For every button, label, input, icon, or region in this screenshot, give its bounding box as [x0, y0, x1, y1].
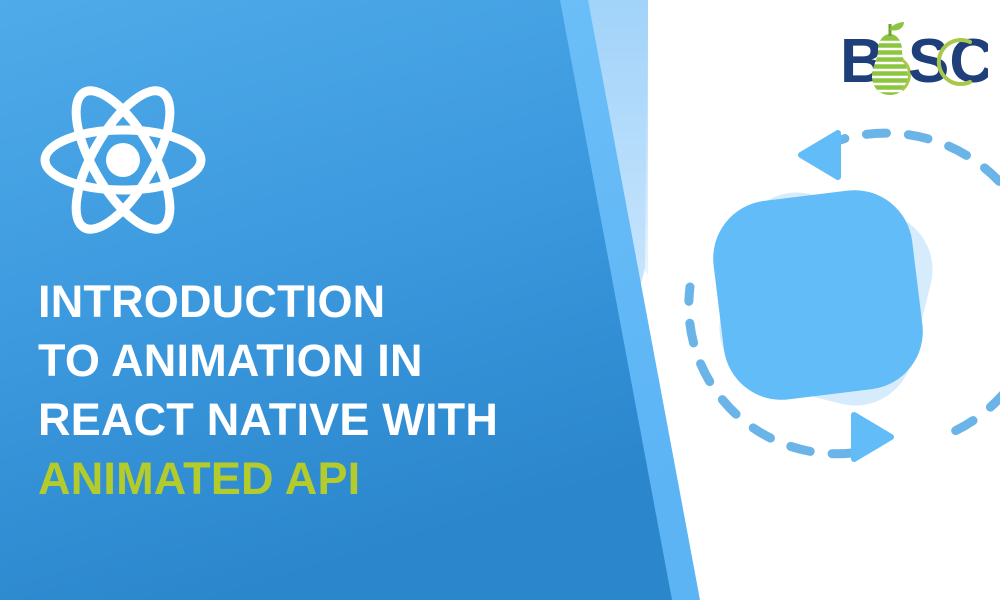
title-line-accent: ANIMATED API — [38, 449, 558, 508]
arrow-head-right — [854, 415, 891, 459]
react-nucleus — [106, 143, 140, 177]
react-atom-logo — [38, 78, 208, 243]
rotating-square-illustration — [676, 105, 1000, 495]
animated-square — [707, 184, 930, 407]
title-line-3: REACT NATIVE WITH — [38, 390, 558, 449]
title-line-2: TO ANIMATION IN — [38, 331, 558, 390]
page-title: INTRODUCTION TO ANIMATION IN REACT NATIV… — [38, 272, 558, 508]
bosc-logo[interactable]: B SC — [838, 20, 988, 98]
arrow-head-left — [801, 133, 838, 177]
banner-root: INTRODUCTION TO ANIMATION IN REACT NATIV… — [0, 0, 1000, 600]
logo-letters-sc: SC — [908, 27, 988, 96]
background-wedge-light — [540, 0, 648, 276]
title-line-1: INTRODUCTION — [38, 272, 558, 331]
